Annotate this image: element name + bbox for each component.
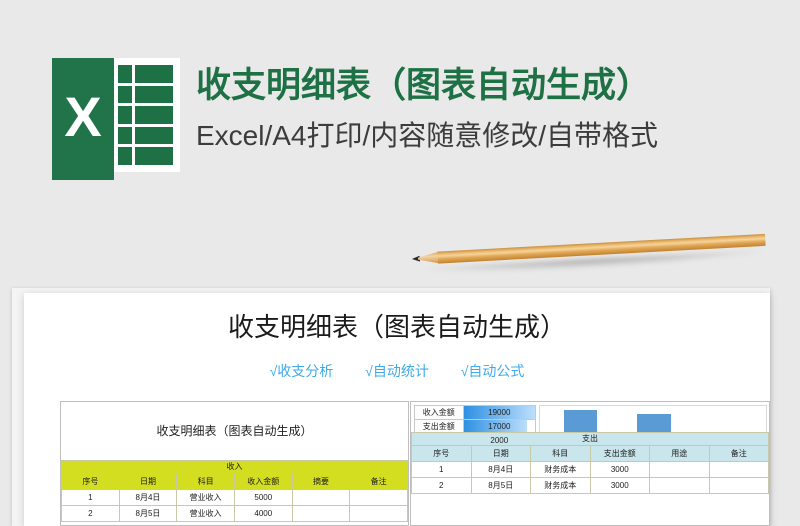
summary-row: 收入金额 19000 [415,406,536,420]
income-cell: 5000 [234,490,292,506]
banner-title: 收支明细表（图表自动生成） [196,62,776,110]
expense-cell [650,478,710,494]
income-cell [350,506,408,522]
income-group-header: 收入 [62,461,408,474]
expense-col-5: 备注 [709,446,769,462]
feature-list: √收支分析 √自动统计 √自动公式 [24,361,770,381]
banner: X 收支明细表（图表自动生成） Excel/A4打印/内容随意修改/自带格式 [0,0,800,258]
income-col-3: 收入金额 [234,474,292,490]
expense-cell: 财务成本 [531,478,591,494]
expense-col-0: 序号 [412,446,472,462]
spreadsheet-inner-title: 收支明细表（图表自动生成） [61,402,408,460]
income-cell: 8月4日 [119,490,177,506]
expense-col-4: 用途 [650,446,710,462]
excel-icon: X [52,58,180,172]
preview-sheet-title: 收支明细表（图表自动生成） [24,307,770,344]
table-row: 2 8月5日 财务成本 3000 [412,478,769,494]
spreadsheet-preview: 收支明细表（图表自动生成） 收入 序号 日期 科目 收入金额 摘要 备注 [60,401,770,526]
expense-cell [709,478,769,494]
table-row: 2 8月5日 营业收入 4000 [62,506,408,522]
income-header-row: 序号 日期 科目 收入金额 摘要 备注 [62,474,408,490]
expense-col-2: 科目 [531,446,591,462]
expense-table: 支出 序号 日期 科目 支出金额 用途 备注 [411,432,769,494]
screenshot-stage: X 收支明细表（图表自动生成） Excel/A4打印/内容随意修改/自带格式 收… [0,0,800,526]
income-col-0: 序号 [62,474,120,490]
income-cell: 4000 [234,506,292,522]
income-cell: 2 [62,506,120,522]
expense-cell: 2 [412,478,472,494]
income-table: 收入 序号 日期 科目 收入金额 摘要 备注 [61,460,408,522]
table-row: 1 8月4日 营业收入 5000 [62,490,408,506]
banner-subtitle: Excel/A4打印/内容随意修改/自带格式 [196,114,776,158]
expense-group-header: 支出 [412,433,769,446]
summary-value: 2000 [490,436,508,445]
income-col-2: 科目 [177,474,235,490]
table-row: 1 8月4日 财务成本 3000 [412,462,769,478]
income-col-4: 摘要 [292,474,350,490]
excel-icon-letter: X [52,62,114,172]
feature-item-1: √自动统计 [365,363,429,379]
income-cell: 营业收入 [177,506,235,522]
summary-value: 17000 [488,422,510,431]
income-panel: 收支明细表（图表自动生成） 收入 序号 日期 科目 收入金额 摘要 备注 [60,401,409,526]
banner-text: 收支明细表（图表自动生成） Excel/A4打印/内容随意修改/自带格式 [196,62,776,158]
expense-panel: 收入金额 19000 支出金额 17000 [410,401,770,526]
income-col-5: 备注 [350,474,408,490]
expense-col-3: 支出金额 [590,446,650,462]
feature-item-0: √收支分析 [270,363,334,379]
expense-cell: 1 [412,462,472,478]
expense-cell: 8月5日 [471,478,531,494]
preview-card: 收支明细表（图表自动生成） √收支分析 √自动统计 √自动公式 收支明细表（图表… [24,293,770,526]
expense-cell: 3000 [590,462,650,478]
expense-header-row: 序号 日期 科目 支出金额 用途 备注 [412,446,769,462]
summary-value: 19000 [488,408,510,417]
excel-icon-sheet [112,58,180,172]
summary-label: 收入金额 [415,406,464,420]
income-cell: 营业收入 [177,490,235,506]
summary-value-cell: 19000 [463,406,535,420]
expense-cell [650,462,710,478]
expense-cell: 财务成本 [531,462,591,478]
expense-cell: 8月4日 [471,462,531,478]
expense-cell: 3000 [590,478,650,494]
income-cell: 1 [62,490,120,506]
feature-item-2: √自动公式 [461,363,525,379]
expense-col-1: 日期 [471,446,531,462]
income-cell [350,490,408,506]
income-cell: 8月5日 [119,506,177,522]
income-cell [292,490,350,506]
income-cell [292,506,350,522]
expense-cell [709,462,769,478]
income-col-1: 日期 [119,474,177,490]
